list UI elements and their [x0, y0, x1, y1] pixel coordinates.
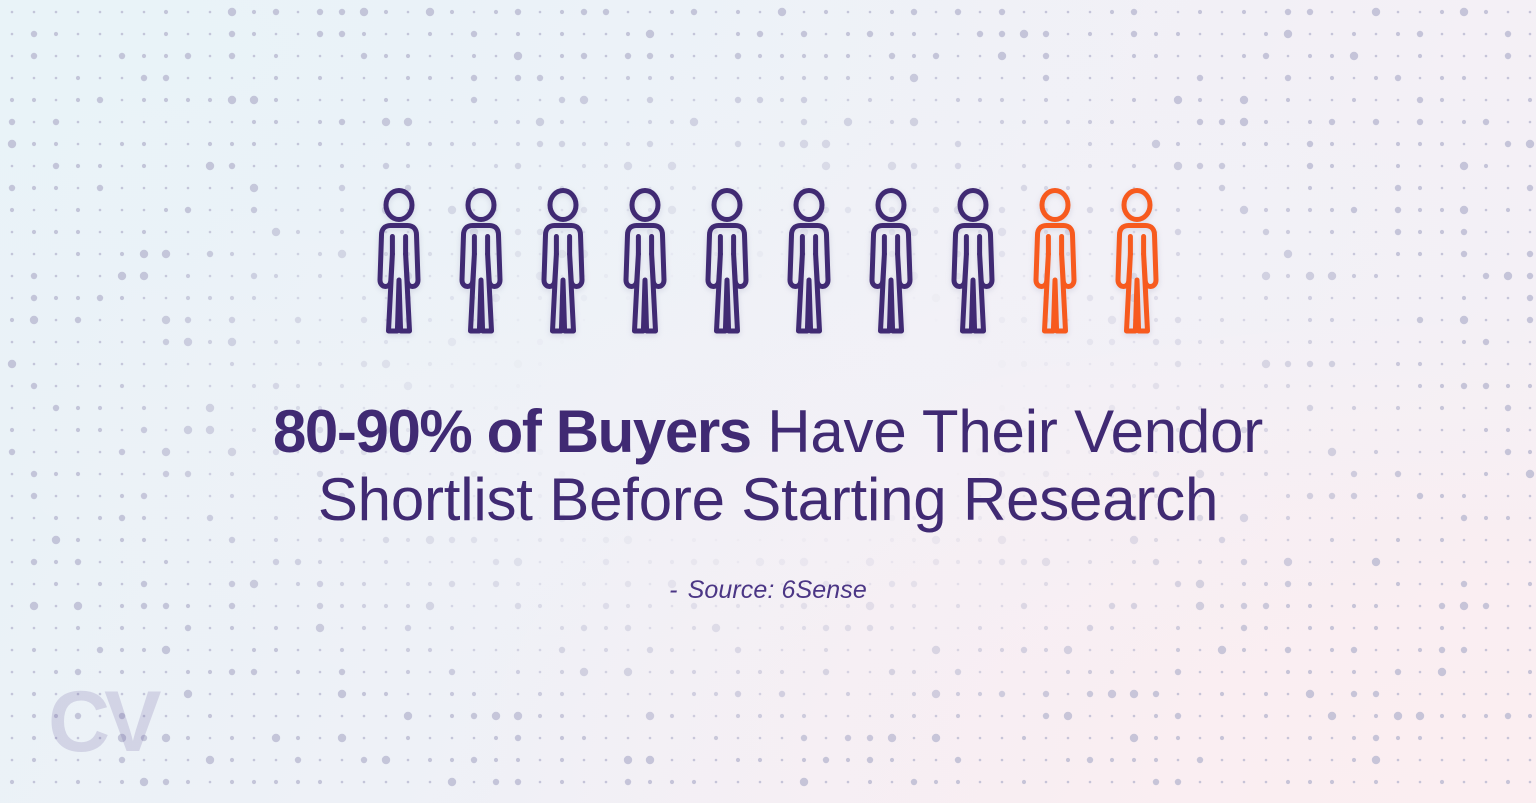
- person-icon: [942, 188, 1004, 336]
- infographic-canvas: 80-90% of Buyers Have Their Vendor Short…: [0, 0, 1536, 803]
- headline-line-1: 80-90% of Buyers Have Their Vendor: [0, 398, 1536, 466]
- source-text: Source: 6Sense: [688, 576, 867, 604]
- page-title: 80-90% of Buyers Have Their Vendor Short…: [0, 398, 1536, 535]
- person-icon: [778, 188, 840, 336]
- headline-rest: Have Their Vendor: [751, 398, 1263, 465]
- person-icon: [696, 188, 758, 336]
- pictogram-people-row: [0, 188, 1536, 336]
- source-attribution: -Source: 6Sense: [0, 576, 1536, 605]
- headline-line-2: Shortlist Before Starting Research: [0, 466, 1536, 534]
- brand-watermark-logo: CV: [48, 679, 155, 765]
- person-icon: [368, 188, 430, 336]
- headline-emphasis: 80-90% of Buyers: [273, 398, 751, 465]
- person-icon: [614, 188, 676, 336]
- person-icon: [450, 188, 512, 336]
- source-dash: -: [669, 576, 677, 604]
- person-icon: [1106, 188, 1168, 336]
- person-icon: [532, 188, 594, 336]
- person-icon: [1024, 188, 1086, 336]
- person-icon: [860, 188, 922, 336]
